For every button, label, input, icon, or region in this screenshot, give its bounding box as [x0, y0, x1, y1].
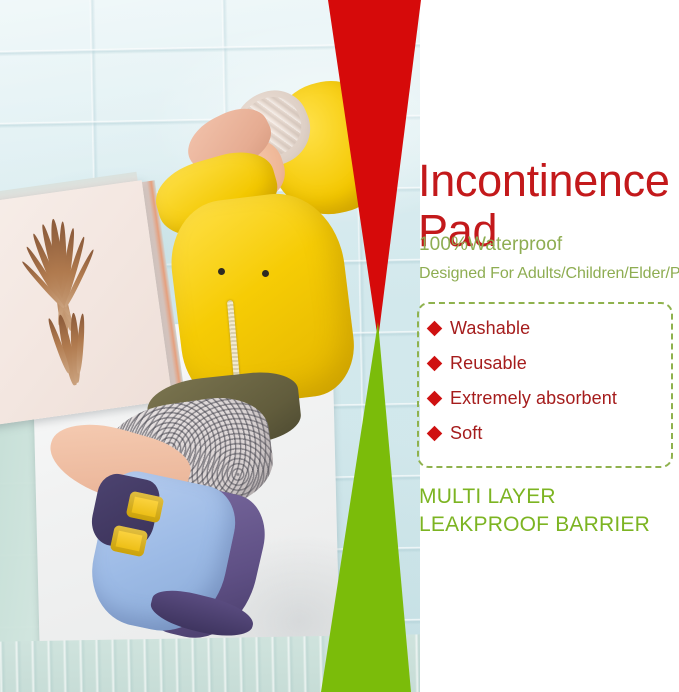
feature-item: Reusable: [429, 353, 671, 374]
diamond-bullet-icon: [427, 391, 443, 407]
subtitle-audience: Designed For Adults/Children/Elder/Pets: [419, 265, 679, 283]
feature-item: Washable: [429, 318, 671, 339]
feature-list: Washable Reusable Extremely absorbent So…: [419, 304, 671, 444]
tagline: MULTI LAYER LEAKPROOF BARRIER: [419, 483, 650, 539]
child-figure: [0, 0, 420, 692]
feature-item: Extremely absorbent: [429, 388, 671, 409]
jacket-stud: [218, 268, 225, 275]
tagline-line-1: MULTI LAYER: [419, 485, 556, 508]
feature-item: Soft: [429, 423, 671, 444]
diamond-bullet-icon: [427, 321, 443, 337]
bed-ruffle: [0, 634, 420, 692]
feature-label: Soft: [450, 423, 482, 444]
product-photo: The mountain, too, went back to his lone…: [0, 0, 420, 692]
tagline-line-2: LEAKPROOF BARRIER: [419, 513, 650, 536]
feature-label: Extremely absorbent: [450, 388, 617, 409]
jacket-stud: [262, 270, 269, 277]
text-panel: Incontinence Pad 100%Waterproof Designed…: [410, 0, 679, 692]
feature-box: Washable Reusable Extremely absorbent So…: [417, 302, 673, 468]
title-line-1: Incontinence: [418, 155, 670, 206]
subtitle-waterproof: 100%Waterproof: [419, 234, 562, 256]
feature-label: Washable: [450, 318, 530, 339]
feature-label: Reusable: [450, 353, 527, 374]
product-poster: The mountain, too, went back to his lone…: [0, 0, 679, 692]
diamond-bullet-icon: [427, 356, 443, 372]
diamond-bullet-icon: [427, 426, 443, 442]
